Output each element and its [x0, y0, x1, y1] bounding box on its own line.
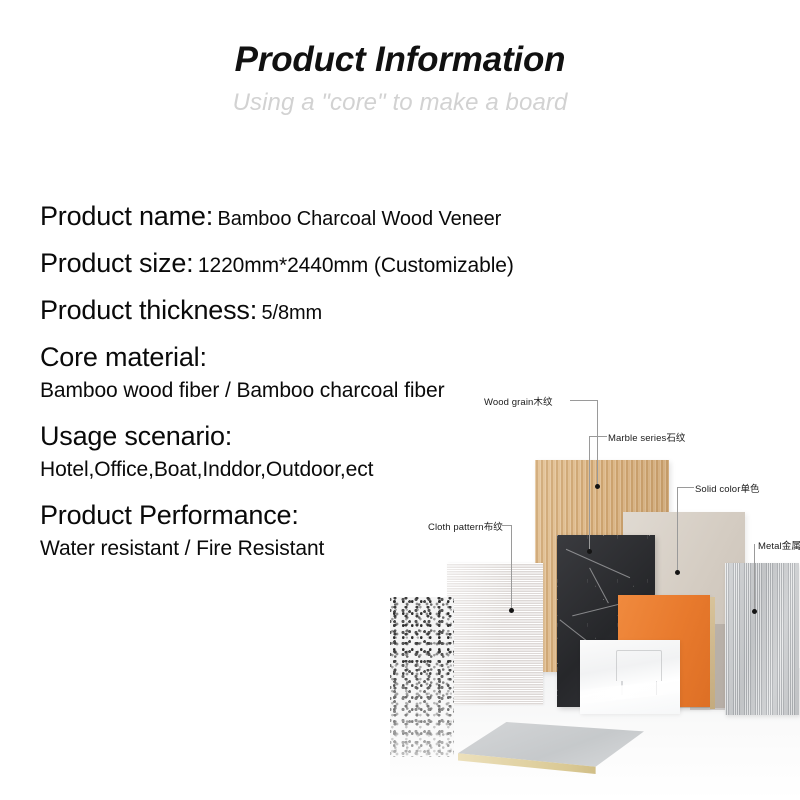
spec-label-usage-scenario: Usage scenario:	[40, 421, 232, 451]
callout-label-solid-color: Solid color单色	[695, 481, 760, 495]
spec-row-usage-scenario-value: Hotel,Office,Boat,Inddor,Outdoor,ect	[40, 459, 640, 480]
spec-row-core-material-label: Core material:	[40, 344, 640, 371]
panel-metal	[725, 563, 799, 715]
spec-label-product-performance: Product Performance:	[40, 500, 299, 530]
product-spec-list: Product name: Bamboo Charcoal Wood Venee…	[40, 203, 640, 581]
panel-speckle-texture	[390, 597, 454, 757]
leader-line-solid-color	[677, 487, 678, 572]
panel-glossy-white	[580, 640, 680, 714]
spec-value-product-performance: Water resistant / Fire Resistant	[40, 537, 324, 560]
spec-row-product-thickness: Product thickness: 5/8mm	[40, 297, 640, 324]
leader-line-metal	[754, 544, 755, 611]
spec-row-core-material-value: Bamboo wood fiber / Bamboo charcoal fibe…	[40, 380, 640, 401]
callout-label-metal: Metal金属	[758, 538, 800, 552]
spec-label-core-material: Core material:	[40, 342, 207, 372]
panel-cloth-pattern	[447, 563, 543, 705]
spec-row-product-performance-label: Product Performance:	[40, 502, 640, 529]
spec-value-product-size: 1220mm*2440mm (Customizable)	[198, 254, 514, 277]
spec-row-product-size: Product size: 1220mm*2440mm (Customizabl…	[40, 250, 640, 277]
spec-label-product-name: Product name:	[40, 201, 213, 231]
spec-value-usage-scenario: Hotel,Office,Boat,Inddor,Outdoor,ect	[40, 458, 373, 481]
spec-label-product-thickness: Product thickness:	[40, 295, 257, 325]
spec-value-core-material: Bamboo wood fiber / Bamboo charcoal fibe…	[40, 379, 444, 402]
panel-flat-board	[458, 722, 644, 774]
callout-dot-solid-color	[675, 570, 680, 575]
product-information-page: Product Information Using a "core" to ma…	[0, 0, 800, 800]
spec-row-product-performance-value: Water resistant / Fire Resistant	[40, 538, 640, 559]
spec-label-product-size: Product size:	[40, 248, 193, 278]
spec-value-product-thickness: 5/8mm	[261, 302, 322, 324]
page-title: Product Information	[0, 0, 800, 80]
spec-value-product-name: Bamboo Charcoal Wood Veneer	[217, 208, 501, 230]
callout-dot-metal	[752, 609, 757, 614]
chair-reflection	[616, 650, 662, 681]
leader-line-solid-color	[677, 487, 694, 488]
spec-row-product-name: Product name: Bamboo Charcoal Wood Venee…	[40, 203, 640, 230]
spec-row-usage-scenario-label: Usage scenario:	[40, 423, 640, 450]
callout-dot-cloth-pattern	[509, 608, 514, 613]
page-header: Product Information Using a "core" to ma…	[0, 0, 800, 117]
page-subtitle: Using a "core" to make a board	[0, 80, 800, 117]
panel-core-edge	[710, 597, 715, 709]
